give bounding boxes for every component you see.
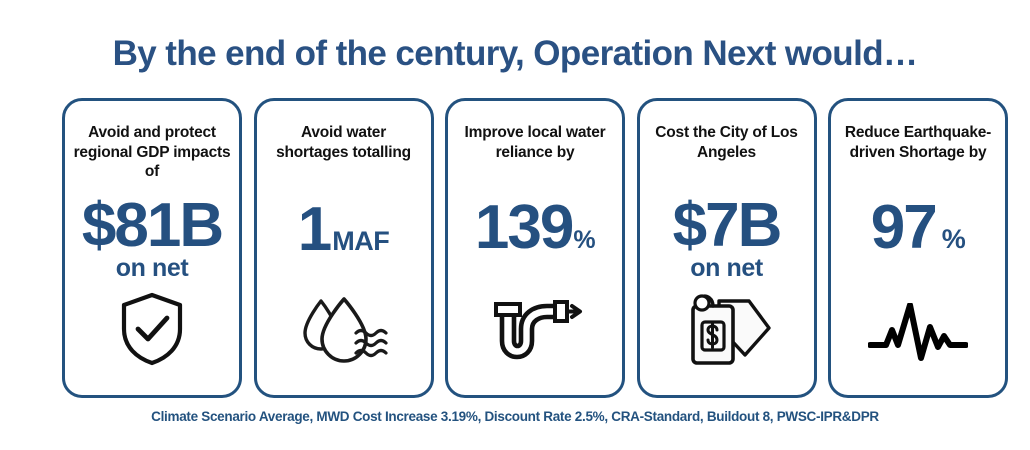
stat-subtext: on net [640, 254, 814, 283]
shield-check-icon [119, 291, 185, 367]
stat-card-city-cost: Cost the City of Los Angeles $7B on net [637, 98, 817, 398]
card-heading: Avoid water shortages totalling [264, 123, 424, 162]
page-title: By the end of the century, Operation Nex… [0, 34, 1030, 74]
stat-card-water-shortage: Avoid water shortages totalling 1 MAF [254, 98, 434, 398]
card-stat: $81B on net [65, 197, 239, 283]
card-stat: 97 % [831, 199, 1005, 258]
footnote: Climate Scenario Average, MWD Cost Incre… [0, 409, 1030, 424]
card-icon-slot [65, 287, 239, 367]
stat-value: 139 [475, 199, 572, 258]
stat-value: $81B [82, 197, 222, 256]
stat-line: 139 % [448, 199, 622, 258]
card-icon-slot [448, 287, 622, 367]
stat-unit: % [936, 224, 966, 255]
card-icon-slot [257, 287, 431, 367]
stat-line: 97 % [831, 199, 1005, 258]
stat-unit: % [572, 226, 595, 255]
stat-line: $7B [640, 197, 814, 256]
price-tag-icon [681, 287, 773, 367]
stat-value: 1 [298, 201, 330, 260]
stat-value: $7B [673, 197, 781, 256]
card-heading: Cost the City of Los Angeles [647, 123, 807, 162]
stat-line: $81B [65, 197, 239, 256]
stat-card-gdp: Avoid and protect regional GDP impacts o… [62, 98, 242, 398]
card-stat: $7B on net [640, 197, 814, 283]
stat-unit: MAF [330, 226, 389, 257]
stat-card-water-reliance: Improve local water reliance by 139 % [445, 98, 625, 398]
card-heading: Reduce Earthquake-driven Shortage by [838, 123, 998, 162]
stat-card-row: Avoid and protect regional GDP impacts o… [62, 98, 1008, 398]
pipe-trap-icon [487, 297, 583, 367]
stat-value: 97 [871, 199, 936, 258]
card-heading: Improve local water reliance by [455, 123, 615, 162]
card-stat: 139 % [448, 199, 622, 258]
card-icon-slot [831, 287, 1005, 367]
card-heading: Avoid and protect regional GDP impacts o… [72, 123, 232, 182]
water-droplets-icon [298, 297, 390, 367]
stat-card-earthquake: Reduce Earthquake-driven Shortage by 97 … [828, 98, 1008, 398]
seismograph-icon [868, 303, 968, 367]
card-stat: 1 MAF [257, 201, 431, 260]
stat-line: 1 MAF [257, 201, 431, 260]
card-icon-slot [640, 287, 814, 367]
